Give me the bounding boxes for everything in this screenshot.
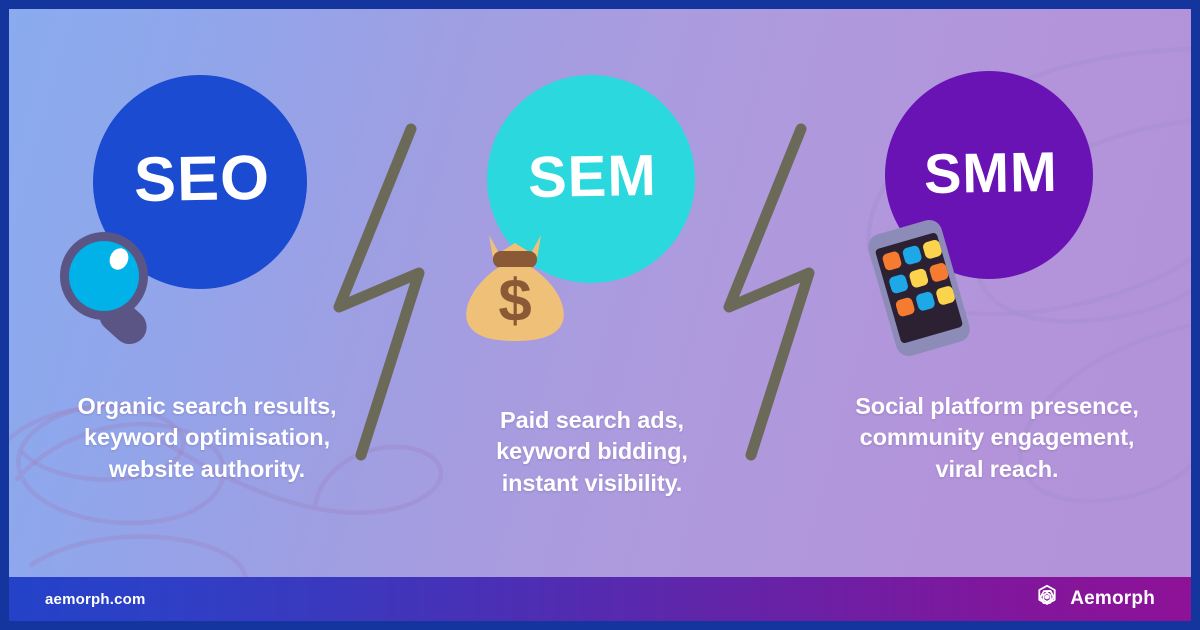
money-bag-icon: $ [459,221,571,343]
footer-bar: aemorph.com Aemorph [9,577,1191,621]
lightning-bolt-divider-2 [709,117,839,467]
seo-caption: Organic search results, keyword optimisa… [64,391,350,485]
infographic-canvas: SEO SEM SMM $ [0,0,1200,630]
footer-brand[interactable]: Aemorph [1033,583,1155,616]
smm-bubble-label: SMM [924,144,1059,202]
sem-bubble-label: SEM [527,147,657,207]
aemorph-logo-icon [1033,583,1061,616]
smm-caption: Social platform presence, community enga… [847,391,1147,485]
footer-brand-name: Aemorph [1070,588,1155,610]
magnifying-glass-icon [55,231,183,351]
footer-website-url[interactable]: aemorph.com [45,591,146,608]
seo-bubble-label: SEO [133,146,270,211]
infographic-inner-background: SEO SEM SMM $ [9,9,1191,621]
sem-caption: Paid search ads, keyword bidding, instan… [461,405,723,499]
svg-text:$: $ [498,267,531,334]
smartphone-apps-icon [855,217,983,359]
